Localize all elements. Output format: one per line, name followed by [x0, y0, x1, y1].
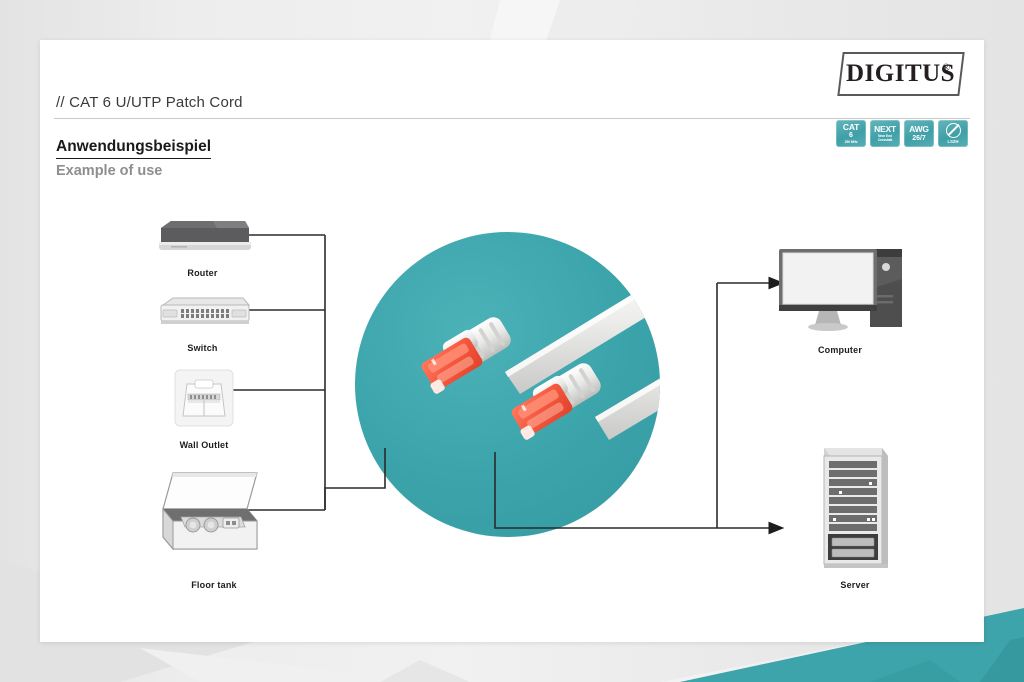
node-switch-label: Switch: [145, 343, 260, 353]
node-wall-outlet-label: Wall Outlet: [158, 440, 250, 450]
registered-trademark-icon: ®: [942, 63, 950, 74]
router-icon: [153, 218, 253, 258]
lszh-badge-footnote: LSZH: [948, 140, 959, 144]
floor-tank-icon: [157, 465, 272, 570]
node-router-label: Router: [145, 268, 260, 278]
awg-badge-line1: AWG: [909, 125, 929, 134]
node-floor-tank[interactable]: Floor tank: [150, 465, 278, 590]
product-subtitle: // CAT 6 U/UTP Patch Cord: [56, 94, 243, 111]
node-computer[interactable]: Computer: [775, 245, 905, 355]
no-halogen-icon: [946, 123, 961, 138]
spec-badge-group: CAT 6 250 MHz NEXT Near End Crosstalk AW…: [836, 120, 968, 147]
node-switch[interactable]: Switch: [145, 293, 260, 353]
node-router[interactable]: Router: [145, 218, 260, 278]
server-icon: [814, 442, 896, 570]
logo-frame: DIGITUS: [837, 52, 964, 96]
cat6-badge-line2: 6: [849, 132, 853, 139]
node-server[interactable]: Server: [800, 442, 910, 590]
switch-icon: [153, 293, 253, 333]
header-divider: [54, 118, 970, 119]
node-wall-outlet[interactable]: Wall Outlet: [158, 368, 250, 450]
content-card: DIGITUS ® // CAT 6 U/UTP Patch Cord Anwe…: [40, 40, 984, 642]
usage-diagram: Router: [40, 190, 984, 642]
awg-badge-line2: 26/7: [912, 135, 926, 142]
wall-outlet-icon: [169, 368, 239, 430]
node-computer-label: Computer: [775, 345, 905, 355]
next-badge-sub: Near End Crosstalk: [878, 135, 893, 142]
right-plug-drop: [495, 452, 717, 528]
page-title-en: Example of use: [56, 163, 162, 179]
cat6-badge: CAT 6 250 MHz: [836, 120, 866, 147]
node-server-label: Server: [800, 580, 910, 590]
logo-text: DIGITUS: [846, 60, 955, 88]
node-floor-tank-label: Floor tank: [150, 580, 278, 590]
page-title-de: Anwendungsbeispiel: [56, 138, 211, 159]
next-badge: NEXT Near End Crosstalk: [870, 120, 900, 147]
cat6-badge-line1: CAT: [843, 123, 859, 132]
awg-badge: AWG 26/7: [904, 120, 934, 147]
lszh-badge: LSZH: [938, 120, 968, 147]
next-badge-line1: NEXT: [874, 125, 896, 134]
left-plug-drop: [325, 448, 385, 510]
cat6-badge-footnote: 250 MHz: [845, 141, 858, 144]
computer-icon: [775, 245, 905, 335]
digitus-logo: DIGITUS ®: [840, 52, 962, 96]
